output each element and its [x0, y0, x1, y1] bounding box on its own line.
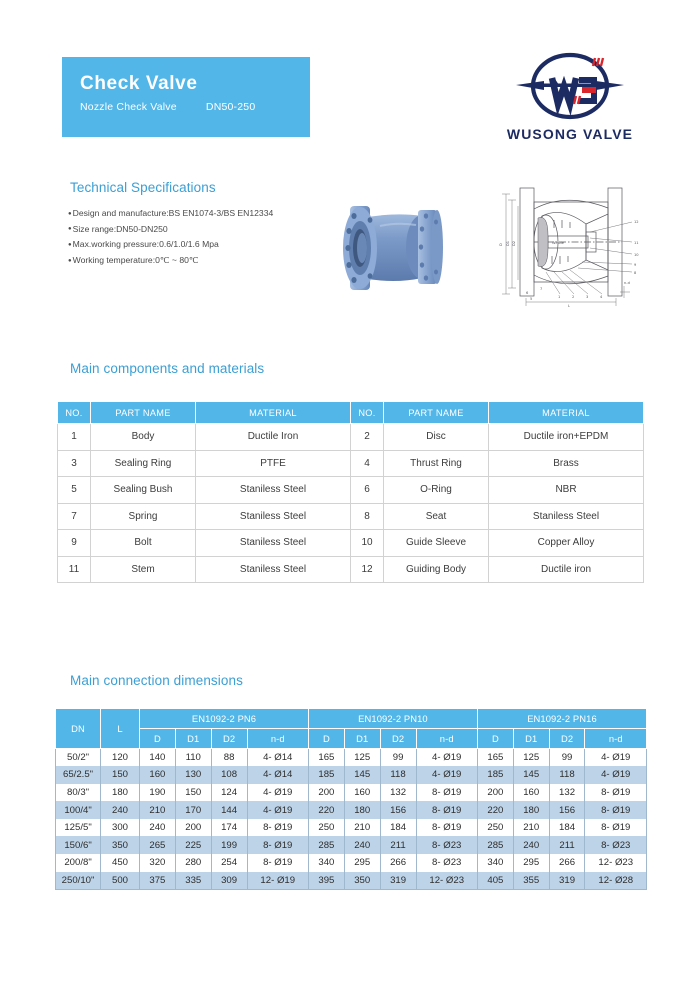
cell-no: 3	[58, 450, 91, 477]
cell-pn16-d1: 210	[513, 819, 549, 837]
table-sub-header-row: D D1 D2 n-d D D1 D2 n-d D D1 D2 n-d	[56, 729, 647, 749]
cell-no: 11	[58, 556, 91, 583]
cell-pn6-d: 160	[139, 766, 175, 784]
cell-dn: 150/6"	[56, 836, 101, 854]
cell-pn10-d2: 118	[380, 766, 416, 784]
cell-pn16-nd: 8- Ø19	[585, 801, 647, 819]
cell-pn6-d2: 144	[211, 801, 247, 819]
cell-material: Copper Alloy	[489, 530, 644, 557]
product-type-label: Nozzle Check Valve	[80, 101, 177, 113]
column-header-part-name: PART NAME	[384, 402, 489, 424]
table-row: 65/2.5" 150 160 130 108 4- Ø14 185 145 1…	[56, 766, 647, 784]
cell-pn16-nd: 8- Ø23	[585, 836, 647, 854]
cell-material: Staniless Steel	[196, 556, 351, 583]
cell-pn16-d2: 266	[549, 854, 585, 872]
cell-part-name: Stem	[91, 556, 196, 583]
cell-pn6-d2: 124	[211, 784, 247, 802]
cell-material: Ductile Iron	[196, 424, 351, 451]
cell-part-name: Body	[91, 424, 196, 451]
cell-pn6-d: 375	[139, 872, 175, 890]
cell-pn10-d1: 160	[344, 784, 380, 802]
cell-dn: 125/5"	[56, 819, 101, 837]
svg-text:11: 11	[634, 241, 639, 245]
cell-pn10-d2: 266	[380, 854, 416, 872]
svg-text:W.hole: W.hole	[552, 241, 565, 245]
svg-text:6: 6	[526, 291, 529, 295]
spec-item: Working temperature:0℃ ~ 80℃	[68, 253, 338, 269]
svg-text:5: 5	[530, 297, 532, 301]
specifications-heading: Technical Specifications	[70, 180, 216, 195]
cell-part-name: Bolt	[91, 530, 196, 557]
column-header-nd: n-d	[416, 729, 477, 749]
cell-pn10-d1: 350	[344, 872, 380, 890]
column-header-material: MATERIAL	[196, 402, 351, 424]
cell-pn16-d1: 160	[513, 784, 549, 802]
cell-pn16-d2: 118	[549, 766, 585, 784]
cell-pn10-nd: 8- Ø23	[416, 854, 477, 872]
cell-part-name: Guide Sleeve	[384, 530, 489, 557]
cell-pn10-d1: 210	[344, 819, 380, 837]
cell-no: 4	[351, 450, 384, 477]
column-header-d2: D2	[380, 729, 416, 749]
svg-text:8: 8	[634, 271, 637, 275]
cell-no: 8	[351, 503, 384, 530]
cell-pn16-d1: 145	[513, 766, 549, 784]
column-header-nd: n-d	[247, 729, 308, 749]
column-header-d: D	[308, 729, 344, 749]
svg-text:D: D	[499, 243, 503, 246]
cell-pn10-d: 340	[308, 854, 344, 872]
svg-text:4: 4	[600, 295, 603, 299]
cell-pn6-d: 320	[139, 854, 175, 872]
cell-pn16-d2: 319	[549, 872, 585, 890]
cell-l: 180	[101, 784, 140, 802]
cell-pn10-nd: 8- Ø23	[416, 836, 477, 854]
svg-text:12: 12	[634, 220, 639, 224]
cell-pn6-d: 140	[139, 749, 175, 767]
cell-pn6-d: 240	[139, 819, 175, 837]
cell-l: 150	[101, 766, 140, 784]
cell-material: PTFE	[196, 450, 351, 477]
column-header-l: L	[101, 709, 140, 749]
cell-pn16-d: 220	[477, 801, 513, 819]
column-header-d2: D2	[549, 729, 585, 749]
cell-dn: 65/2.5"	[56, 766, 101, 784]
materials-heading: Main components and materials	[70, 361, 264, 376]
cell-part-name: O-Ring	[384, 477, 489, 504]
page-title: Check Valve	[80, 71, 310, 97]
column-header-nd: n-d	[585, 729, 647, 749]
table-row: 250/10" 500 375 335 309 12- Ø19 395 350 …	[56, 872, 647, 890]
cell-pn16-d: 285	[477, 836, 513, 854]
wusong-valve-logo-icon	[494, 52, 646, 124]
cell-material: Staniless Steel	[196, 530, 351, 557]
group-header-pn16: EN1092-2 PN16	[477, 709, 646, 729]
cell-pn6-d2: 309	[211, 872, 247, 890]
cell-pn6-d2: 174	[211, 819, 247, 837]
cell-pn6-d1: 200	[175, 819, 211, 837]
cell-pn16-nd: 4- Ø19	[585, 749, 647, 767]
cell-pn16-nd: 4- Ø19	[585, 766, 647, 784]
cell-material: Staniless Steel	[196, 477, 351, 504]
column-header-dn: DN	[56, 709, 101, 749]
cell-pn10-d1: 145	[344, 766, 380, 784]
cell-no: 6	[351, 477, 384, 504]
cell-pn6-nd: 4- Ø14	[247, 766, 308, 784]
cell-pn6-d1: 280	[175, 854, 211, 872]
cell-dn: 80/3"	[56, 784, 101, 802]
table-row: 3 Sealing Ring PTFE 4 Thrust Ring Brass	[58, 450, 644, 477]
check-valve-product-photo	[322, 196, 470, 299]
column-header-d: D	[139, 729, 175, 749]
dimensions-heading: Main connection dimensions	[70, 673, 243, 688]
cell-pn10-nd: 8- Ø19	[416, 819, 477, 837]
cell-pn6-d1: 170	[175, 801, 211, 819]
cell-pn6-d: 265	[139, 836, 175, 854]
specifications-list: Design and manufacture:BS EN1074-3/BS EN…	[68, 206, 338, 269]
group-header-pn6: EN1092-2 PN6	[139, 709, 308, 729]
cell-pn10-d: 165	[308, 749, 344, 767]
cell-pn10-nd: 4- Ø19	[416, 766, 477, 784]
cell-pn16-d2: 132	[549, 784, 585, 802]
table-row: 11 Stem Staniless Steel 12 Guiding Body …	[58, 556, 644, 583]
group-header-pn10: EN1092-2 PN10	[308, 709, 477, 729]
cell-pn6-nd: 8- Ø19	[247, 854, 308, 872]
svg-text:L: L	[568, 304, 570, 308]
table-row: 150/6" 350 265 225 199 8- Ø19 285 240 21…	[56, 836, 647, 854]
spec-item: Size range:DN50-DN250	[68, 222, 338, 238]
table-row: 200/8" 450 320 280 254 8- Ø19 340 295 26…	[56, 854, 647, 872]
cell-pn10-d1: 125	[344, 749, 380, 767]
cell-pn16-nd: 8- Ø19	[585, 819, 647, 837]
cell-pn16-nd: 12- Ø28	[585, 872, 647, 890]
cell-pn16-d2: 99	[549, 749, 585, 767]
cell-pn10-d: 395	[308, 872, 344, 890]
cell-pn10-d: 250	[308, 819, 344, 837]
cell-pn6-d1: 150	[175, 784, 211, 802]
svg-text:3: 3	[586, 295, 588, 299]
cell-pn6-nd: 4- Ø19	[247, 801, 308, 819]
cell-pn16-d: 200	[477, 784, 513, 802]
page-subtitle: Nozzle Check Valve DN50-250	[80, 101, 310, 113]
cell-pn6-d1: 225	[175, 836, 211, 854]
cell-pn16-d: 405	[477, 872, 513, 890]
cell-no: 7	[58, 503, 91, 530]
cell-pn10-nd: 8- Ø19	[416, 801, 477, 819]
column-header-d1: D1	[175, 729, 211, 749]
column-header-part-name: PART NAME	[91, 402, 196, 424]
materials-table: NO. PART NAME MATERIAL NO. PART NAME MAT…	[57, 401, 644, 583]
cell-pn16-nd: 8- Ø19	[585, 784, 647, 802]
cell-dn: 50/2"	[56, 749, 101, 767]
svg-text:n-d: n-d	[624, 281, 630, 285]
cell-pn10-d2: 319	[380, 872, 416, 890]
cell-l: 500	[101, 872, 140, 890]
cell-pn10-d2: 99	[380, 749, 416, 767]
cell-pn6-nd: 12- Ø19	[247, 872, 308, 890]
cell-no: 10	[351, 530, 384, 557]
cell-part-name: Sealing Bush	[91, 477, 196, 504]
cell-pn16-d2: 156	[549, 801, 585, 819]
svg-text:7: 7	[540, 287, 542, 291]
table-row: 80/3" 180 190 150 124 4- Ø19 200 160 132…	[56, 784, 647, 802]
table-row: 50/2" 120 140 110 88 4- Ø14 165 125 99 4…	[56, 749, 647, 767]
cell-pn6-d2: 88	[211, 749, 247, 767]
cell-pn6-d2: 254	[211, 854, 247, 872]
cell-dn: 200/8"	[56, 854, 101, 872]
dimensions-table: DN L EN1092-2 PN6 EN1092-2 PN10 EN1092-2…	[55, 708, 647, 890]
cell-pn16-d1: 180	[513, 801, 549, 819]
table-header-row: NO. PART NAME MATERIAL NO. PART NAME MAT…	[58, 402, 644, 424]
cell-pn10-d1: 240	[344, 836, 380, 854]
cell-pn16-d1: 240	[513, 836, 549, 854]
cell-pn16-d: 185	[477, 766, 513, 784]
cell-dn: 100/4"	[56, 801, 101, 819]
cell-pn10-nd: 12- Ø23	[416, 872, 477, 890]
cell-material: NBR	[489, 477, 644, 504]
table-row: 7 Spring Staniless Steel 8 Seat Staniles…	[58, 503, 644, 530]
svg-text:D1: D1	[506, 241, 510, 246]
cell-l: 450	[101, 854, 140, 872]
cell-part-name: Guiding Body	[384, 556, 489, 583]
cell-pn16-nd: 12- Ø23	[585, 854, 647, 872]
svg-text:2: 2	[572, 295, 574, 299]
cell-pn6-d2: 108	[211, 766, 247, 784]
table-row: 100/4" 240 210 170 144 4- Ø19 220 180 15…	[56, 801, 647, 819]
cell-material: Staniless Steel	[196, 503, 351, 530]
cell-pn16-d1: 355	[513, 872, 549, 890]
cell-pn10-d: 220	[308, 801, 344, 819]
page-header: Check Valve Nozzle Check Valve DN50-250 …	[0, 0, 700, 160]
cell-pn6-d: 190	[139, 784, 175, 802]
cell-pn16-d1: 125	[513, 749, 549, 767]
svg-text:D2: D2	[512, 241, 516, 246]
cell-material: Ductile iron+EPDM	[489, 424, 644, 451]
spec-item: Design and manufacture:BS EN1074-3/BS EN…	[68, 206, 338, 222]
brand-name: WUSONG VALVE	[494, 126, 646, 142]
cell-material: Staniless Steel	[489, 503, 644, 530]
cell-pn10-d1: 295	[344, 854, 380, 872]
cell-l: 120	[101, 749, 140, 767]
svg-text:10: 10	[634, 253, 639, 257]
table-row: 125/5" 300 240 200 174 8- Ø19 250 210 18…	[56, 819, 647, 837]
cell-dn: 250/10"	[56, 872, 101, 890]
cell-no: 1	[58, 424, 91, 451]
cell-part-name: Disc	[384, 424, 489, 451]
svg-text:9: 9	[634, 263, 637, 267]
cell-part-name: Seat	[384, 503, 489, 530]
cell-l: 300	[101, 819, 140, 837]
check-valve-cross-section-drawing: D D1 D2 L 12 11 10 9 8 1 2 3 4 5 6 7 n-d…	[482, 176, 654, 308]
size-range-label: DN50-250	[206, 101, 255, 113]
cell-pn16-d: 340	[477, 854, 513, 872]
cell-pn10-nd: 4- Ø19	[416, 749, 477, 767]
column-header-no: NO.	[58, 402, 91, 424]
column-header-d1: D1	[344, 729, 380, 749]
cell-l: 350	[101, 836, 140, 854]
cell-pn10-d2: 156	[380, 801, 416, 819]
table-row: 9 Bolt Staniless Steel 10 Guide Sleeve C…	[58, 530, 644, 557]
cell-material: Brass	[489, 450, 644, 477]
cell-pn6-d1: 110	[175, 749, 211, 767]
title-banner: Check Valve Nozzle Check Valve DN50-250	[62, 57, 310, 137]
cell-pn16-d1: 295	[513, 854, 549, 872]
cell-l: 240	[101, 801, 140, 819]
table-row: 1 Body Ductile Iron 2 Disc Ductile iron+…	[58, 424, 644, 451]
table-group-header-row: DN L EN1092-2 PN6 EN1092-2 PN10 EN1092-2…	[56, 709, 647, 729]
cell-no: 2	[351, 424, 384, 451]
spec-item: Max.working pressure:0.6/1.0/1.6 Mpa	[68, 237, 338, 253]
cell-pn6-nd: 8- Ø19	[247, 836, 308, 854]
cell-pn16-d2: 184	[549, 819, 585, 837]
cell-part-name: Sealing Ring	[91, 450, 196, 477]
cell-pn6-d: 210	[139, 801, 175, 819]
cell-pn16-d2: 211	[549, 836, 585, 854]
cell-no: 12	[351, 556, 384, 583]
cell-pn10-nd: 8- Ø19	[416, 784, 477, 802]
cell-pn6-d2: 199	[211, 836, 247, 854]
cell-pn10-d: 285	[308, 836, 344, 854]
cell-part-name: Spring	[91, 503, 196, 530]
svg-text:1: 1	[558, 295, 560, 299]
cell-pn6-nd: 4- Ø19	[247, 784, 308, 802]
company-logo: WUSONG VALVE	[494, 52, 646, 142]
cell-pn10-d: 185	[308, 766, 344, 784]
column-header-d1: D1	[513, 729, 549, 749]
table-row: 5 Sealing Bush Staniless Steel 6 O-Ring …	[58, 477, 644, 504]
cell-pn6-d1: 130	[175, 766, 211, 784]
column-header-d2: D2	[211, 729, 247, 749]
cell-pn6-nd: 4- Ø14	[247, 749, 308, 767]
column-header-no: NO.	[351, 402, 384, 424]
cell-pn6-d1: 335	[175, 872, 211, 890]
column-header-material: MATERIAL	[489, 402, 644, 424]
cell-no: 9	[58, 530, 91, 557]
cell-pn10-d2: 132	[380, 784, 416, 802]
cell-part-name: Thrust Ring	[384, 450, 489, 477]
cell-pn10-d: 200	[308, 784, 344, 802]
cell-pn16-d: 250	[477, 819, 513, 837]
cell-pn6-nd: 8- Ø19	[247, 819, 308, 837]
cell-pn10-d2: 211	[380, 836, 416, 854]
cell-material: Ductile iron	[489, 556, 644, 583]
cell-pn10-d1: 180	[344, 801, 380, 819]
cell-pn10-d2: 184	[380, 819, 416, 837]
cell-pn16-d: 165	[477, 749, 513, 767]
cell-no: 5	[58, 477, 91, 504]
column-header-d: D	[477, 729, 513, 749]
